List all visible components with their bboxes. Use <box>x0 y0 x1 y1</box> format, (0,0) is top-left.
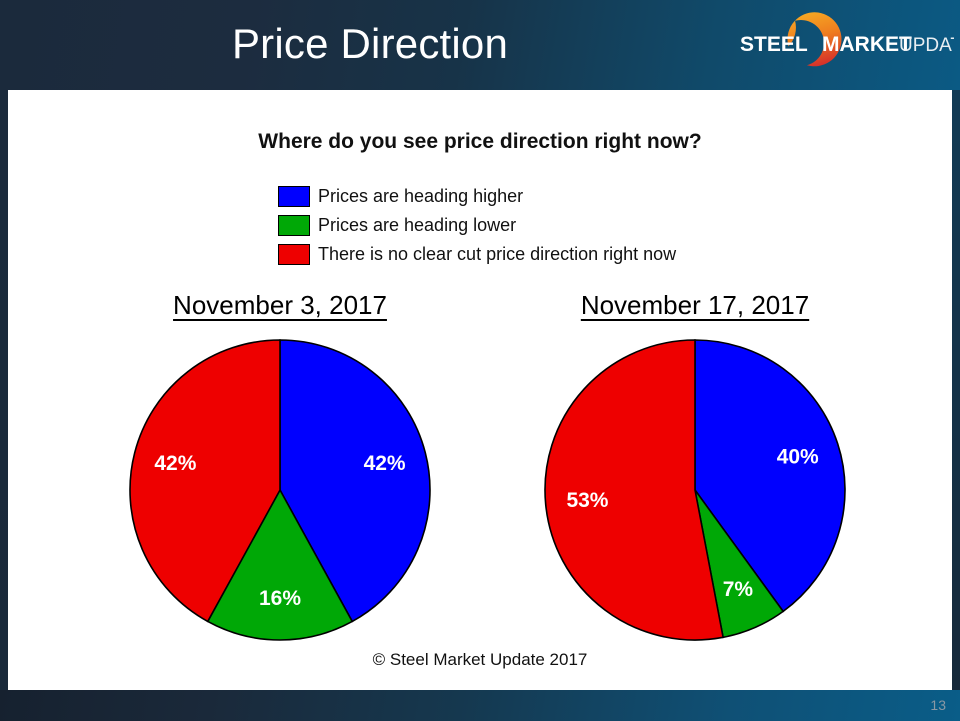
pie-svg-nov-3: 42%16%42% <box>70 330 490 650</box>
content-panel: Where do you see price direction right n… <box>8 90 952 690</box>
pie-slice-label: 16% <box>259 587 301 610</box>
slide: Price Direction STEEL MARKET UPDATE <box>0 0 960 721</box>
slide-header: Price Direction STEEL MARKET UPDATE <box>0 0 960 90</box>
survey-question: Where do you see price direction right n… <box>8 130 952 154</box>
page-title: Price Direction <box>0 17 740 71</box>
pie-slice-label: 40% <box>777 446 819 469</box>
legend-item-lower: Prices are heading lower <box>278 211 778 240</box>
legend-swatch-green-icon <box>278 215 310 236</box>
pie-svg-nov-17: 40%7%53% <box>485 330 905 650</box>
pie-chart-nov-3: November 3, 2017 42%16%42% <box>70 290 490 660</box>
copyright-notice: © Steel Market Update 2017 <box>8 650 952 670</box>
legend-item-higher: Prices are heading higher <box>278 182 778 211</box>
pie-chart-nov-17: November 17, 2017 40%7%53% <box>485 290 905 660</box>
pie-title-nov-3: November 3, 2017 <box>70 290 490 321</box>
legend-swatch-red-icon <box>278 244 310 265</box>
chart-legend: Prices are heading higher Prices are hea… <box>278 182 778 269</box>
steel-market-update-logo: STEEL MARKET UPDATE <box>726 8 954 78</box>
legend-item-noclear: There is no clear cut price direction ri… <box>278 240 778 269</box>
legend-label-noclear: There is no clear cut price direction ri… <box>318 244 676 265</box>
logo-word-update: UPDATE <box>899 35 954 56</box>
pie-slice-label: 7% <box>723 578 754 601</box>
logo-word-steel: STEEL <box>740 33 808 56</box>
pie-slice-label: 42% <box>154 452 196 475</box>
legend-label-lower: Prices are heading lower <box>318 215 516 236</box>
pie-slice-label: 53% <box>566 489 608 512</box>
pie-title-nov-17: November 17, 2017 <box>485 290 905 321</box>
legend-label-higher: Prices are heading higher <box>318 186 523 207</box>
slide-footer: 13 <box>0 690 960 721</box>
legend-swatch-blue-icon <box>278 186 310 207</box>
panel-edge-right <box>952 90 960 690</box>
panel-edge-left <box>0 90 8 690</box>
page-number: 13 <box>930 696 946 714</box>
pie-slice-label: 42% <box>364 452 406 475</box>
